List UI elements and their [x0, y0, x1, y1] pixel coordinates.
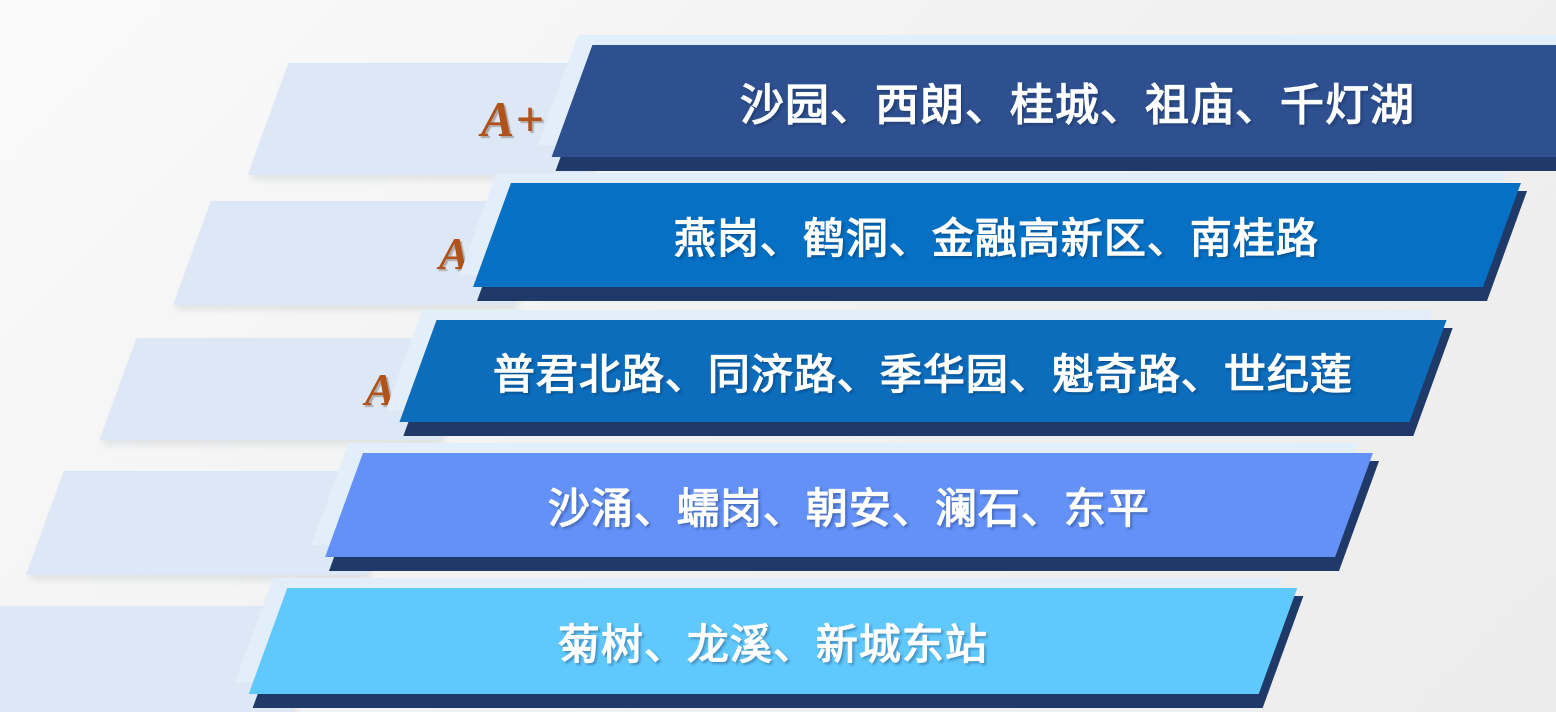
station-list-text: 燕岗、鹤洞、金融高新区、南桂路 — [674, 205, 1319, 266]
station-bar: 燕岗、鹤洞、金融高新区、南桂路 — [473, 183, 1521, 287]
station-bar: 普君北路、同济路、季华园、魁奇路、世纪莲 — [399, 320, 1446, 422]
station-bar: 菊树、龙溪、新城东站 — [249, 588, 1298, 694]
station-bar-row-2: 燕岗、鹤洞、金融高新区、南桂路 — [492, 183, 1502, 293]
station-bar: 沙涌、蠕岗、朝安、澜石、东平 — [325, 453, 1373, 557]
station-bar-row-4: 沙涌、蠕岗、朝安、澜石、东平 — [344, 453, 1354, 563]
station-list-text: 沙涌、蠕岗、朝安、澜石、东平 — [548, 475, 1150, 536]
station-list-text: 菊树、龙溪、新城东站 — [558, 611, 988, 672]
station-list-text: 普君北路、同济路、季华园、魁奇路、世纪莲 — [493, 341, 1353, 402]
station-list-text: 沙园、西朗、桂城、祖庙、千灯湖 — [740, 69, 1415, 133]
grade-cascade-chart: A++沙园、西朗、桂城、祖庙、千灯湖A+燕岗、鹤洞、金融高新区、南桂路A+普君北… — [0, 0, 1556, 712]
station-bar: 沙园、西朗、桂城、祖庙、千灯湖 — [552, 45, 1556, 157]
station-bar-row-1: 沙园、西朗、桂城、祖庙、千灯湖 — [572, 45, 1556, 163]
station-bar-row-3: 普君北路、同济路、季华园、魁奇路、世纪莲 — [418, 320, 1428, 428]
station-bar-row-5: 菊树、龙溪、新城东站 — [268, 588, 1278, 700]
